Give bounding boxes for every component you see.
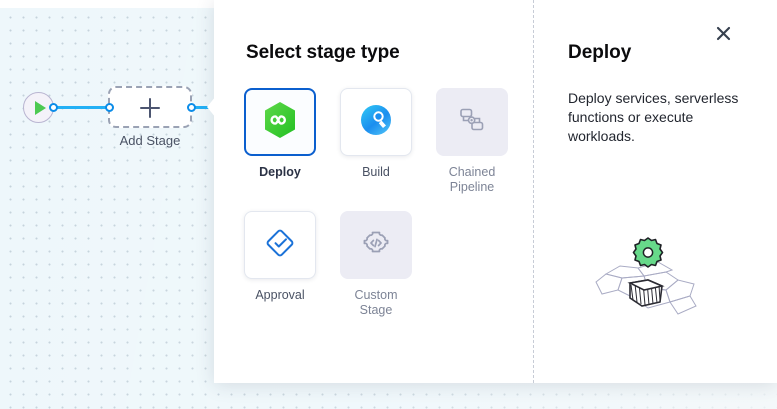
add-stage-output-port[interactable]	[187, 103, 196, 112]
modal-vertical-divider	[533, 0, 534, 383]
hexagon-platform-gear-illustration	[574, 228, 714, 328]
stage-card-chained-pipeline[interactable]	[436, 88, 508, 156]
start-node-output-port[interactable]	[49, 103, 58, 112]
stage-label-custom-stage: Custom Stage	[340, 288, 412, 318]
plus-icon-vertical	[149, 98, 151, 118]
stage-option-custom-stage[interactable]: Custom Stage	[340, 211, 412, 318]
stage-option-deploy[interactable]: Deploy	[244, 88, 316, 195]
stage-card-custom-stage[interactable]	[340, 211, 412, 279]
stage-card-approval[interactable]	[244, 211, 316, 279]
deploy-hexagon-infinity-icon	[263, 101, 297, 144]
add-stage-input-port[interactable]	[105, 103, 114, 112]
detail-panel-description: Deploy services, serverless functions or…	[568, 89, 748, 146]
stage-type-grid: Deploy	[244, 88, 514, 318]
detail-panel-title: Deploy	[568, 42, 631, 64]
stage-label-approval: Approval	[244, 288, 316, 303]
page-title: Select stage type	[246, 42, 400, 64]
stage-label-build: Build	[340, 165, 412, 180]
select-stage-type-modal: Select stage type	[214, 0, 777, 383]
stage-card-deploy[interactable]	[244, 88, 316, 156]
add-stage-label: Add Stage	[88, 133, 212, 148]
stage-option-approval[interactable]: Approval	[244, 211, 316, 318]
stage-label-chained-pipeline: Chained Pipeline	[436, 165, 508, 195]
add-stage-node[interactable]	[108, 86, 192, 128]
stage-label-deploy: Deploy	[244, 165, 316, 180]
close-icon	[716, 26, 731, 41]
chained-pipeline-icon	[457, 105, 487, 140]
modal-pointer-notch	[207, 96, 216, 118]
build-circle-icon	[359, 103, 393, 142]
approval-diamond-check-icon	[264, 227, 296, 264]
connector-start-to-add-stage	[55, 106, 107, 109]
stage-option-build[interactable]: Build	[340, 88, 412, 195]
stage-card-build[interactable]	[340, 88, 412, 156]
stage-option-chained-pipeline[interactable]: Chained Pipeline	[436, 88, 508, 195]
play-icon	[35, 101, 46, 115]
close-button[interactable]	[710, 20, 736, 46]
pipeline-studio-screen: Add Stage Select stage type	[0, 0, 777, 409]
custom-stage-gear-code-icon	[360, 227, 392, 264]
